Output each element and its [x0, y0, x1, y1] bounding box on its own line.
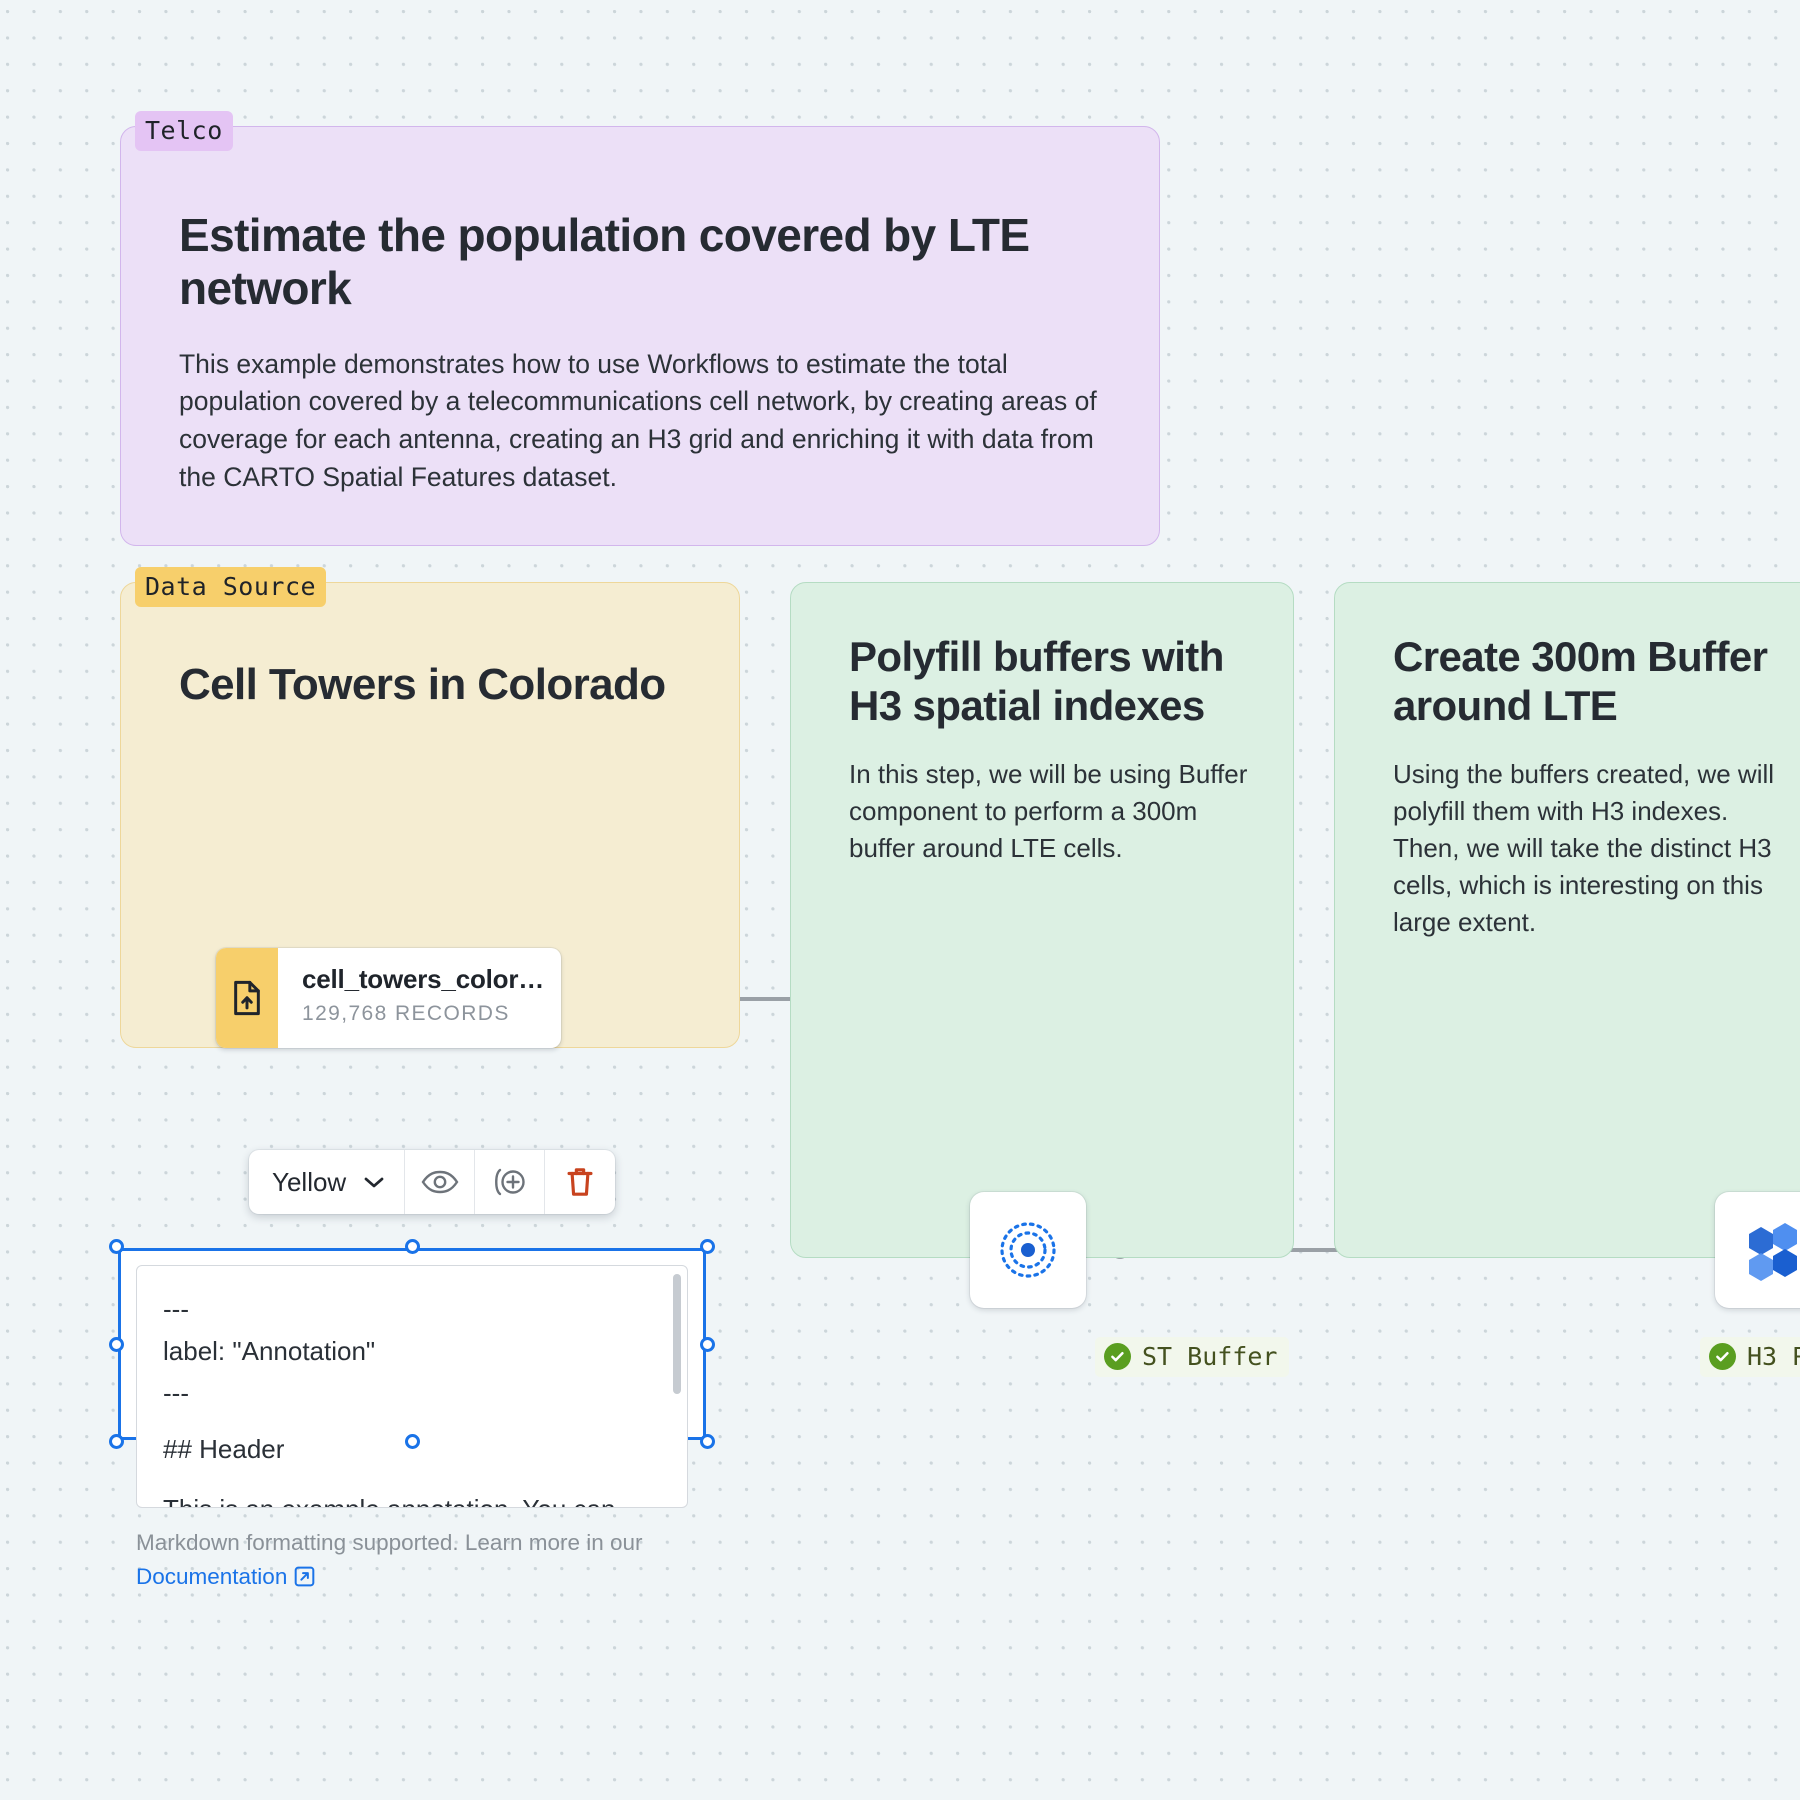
- resize-handle-middle-right[interactable]: [700, 1337, 715, 1352]
- annotation-line-blank: [163, 1470, 661, 1484]
- external-link-icon: [294, 1566, 315, 1587]
- annotation-line-clipped: This is an example annotation. You can: [163, 1488, 661, 1508]
- data-source-node[interactable]: cell_towers_color… 129,768 RECORDS: [216, 948, 561, 1048]
- annotation-editor[interactable]: --- label: "Annotation" --- ## Header Th…: [118, 1248, 706, 1440]
- chevron-down-icon: [364, 1176, 384, 1189]
- color-select[interactable]: Yellow: [249, 1150, 405, 1214]
- group-card-polyfill[interactable]: Polyfill buffers with H3 spatial indexes…: [790, 582, 1294, 1258]
- group-title: Cell Towers in Colorado: [179, 659, 681, 710]
- trash-icon: [565, 1165, 595, 1199]
- zoom-to-node-icon: [490, 1165, 530, 1199]
- group-card-telco[interactable]: Telco Estimate the population covered by…: [120, 126, 1160, 546]
- annotation-help-label: Markdown formatting supported. Learn mor…: [136, 1530, 643, 1555]
- delete-button[interactable]: [545, 1150, 615, 1214]
- eye-icon: [421, 1169, 459, 1195]
- workflow-canvas[interactable]: Telco Estimate the population covered by…: [0, 0, 1800, 1800]
- node-status-label-text: H3 Pol: [1747, 1342, 1800, 1371]
- resize-handle-bottom-right[interactable]: [700, 1434, 715, 1449]
- node-status-label-st-buffer: ST Buffer: [1095, 1337, 1289, 1377]
- annotation-line: label: "Annotation": [163, 1330, 661, 1372]
- resize-handle-top-left[interactable]: [109, 1239, 124, 1254]
- annotation-line: ---: [163, 1372, 661, 1414]
- color-select-value: Yellow: [272, 1167, 346, 1198]
- preview-button[interactable]: [405, 1150, 475, 1214]
- group-badge-data-source[interactable]: Data Source: [135, 567, 326, 607]
- group-title: Create 300m Buffer around LTE: [1393, 633, 1793, 730]
- group-description: In this step, we will be using Buffer co…: [849, 756, 1249, 867]
- data-source-record-count: 129,768 RECORDS: [302, 1002, 544, 1026]
- annotation-line-blank: [163, 1414, 661, 1428]
- resize-handle-bottom-center[interactable]: [405, 1434, 420, 1449]
- node-status-label-h3-polyfill: H3 Pol: [1700, 1337, 1800, 1377]
- resize-handle-top-center[interactable]: [405, 1239, 420, 1254]
- resize-handle-bottom-left[interactable]: [109, 1434, 124, 1449]
- check-circle-icon: [1709, 1343, 1736, 1370]
- node-status-label-text: ST Buffer: [1142, 1342, 1277, 1371]
- annotation-scrollbar[interactable]: [673, 1274, 681, 1394]
- group-title: Estimate the population covered by LTE n…: [179, 209, 1101, 316]
- group-description: Using the buffers created, we will polyf…: [1393, 756, 1793, 941]
- data-source-name: cell_towers_color…: [302, 964, 544, 995]
- resize-handle-middle-left[interactable]: [109, 1337, 124, 1352]
- zoom-to-node-button[interactable]: [475, 1150, 545, 1214]
- st-buffer-icon: [997, 1219, 1059, 1281]
- resize-handle-top-right[interactable]: [700, 1239, 715, 1254]
- group-card-buffer[interactable]: Create 300m Buffer around LTE Using the …: [1334, 582, 1800, 1258]
- documentation-link-label: Documentation: [136, 1560, 287, 1594]
- h3-polyfill-icon: [1740, 1219, 1800, 1281]
- annotation-line: ---: [163, 1288, 661, 1330]
- annotation-textarea[interactable]: --- label: "Annotation" --- ## Header Th…: [136, 1265, 688, 1508]
- group-title: Polyfill buffers with H3 spatial indexes: [849, 633, 1249, 730]
- group-badge-telco[interactable]: Telco: [135, 111, 233, 151]
- documentation-link[interactable]: Documentation: [136, 1560, 315, 1594]
- check-circle-icon: [1104, 1343, 1131, 1370]
- file-upload-icon: [216, 948, 278, 1048]
- annotation-help-text: Markdown formatting supported. Learn mor…: [136, 1526, 688, 1594]
- workflow-node-st-buffer[interactable]: [970, 1192, 1086, 1308]
- node-toolbar[interactable]: Yellow: [249, 1150, 615, 1214]
- workflow-node-h3-polyfill[interactable]: [1715, 1192, 1800, 1308]
- group-description: This example demonstrates how to use Wor…: [179, 346, 1101, 497]
